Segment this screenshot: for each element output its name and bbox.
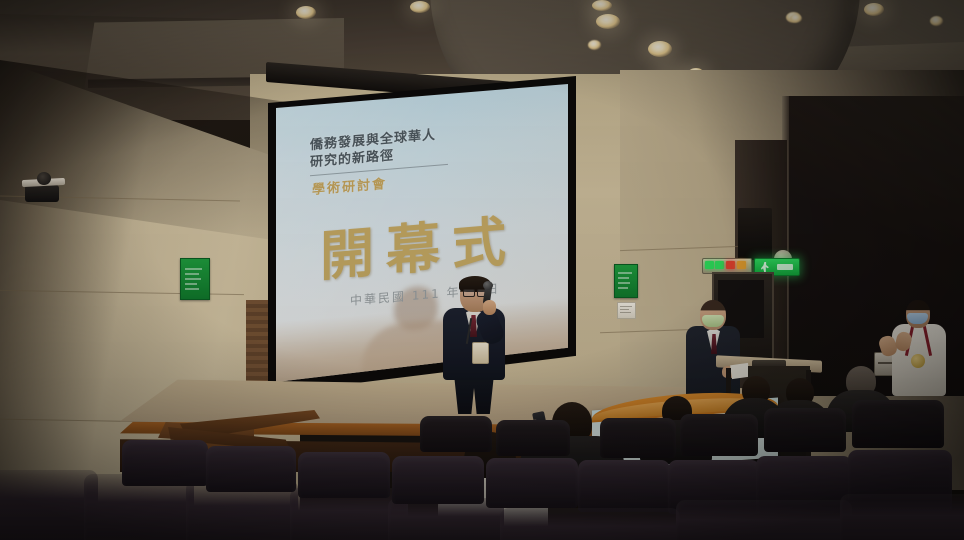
downlight-icon <box>790 14 802 23</box>
wall-camera-icon <box>37 172 51 185</box>
downlight-icon <box>410 1 430 13</box>
led-green-icon <box>705 261 714 269</box>
eyeglasses-icon <box>463 289 475 297</box>
wall-speaker-icon <box>25 185 59 202</box>
wall-loudspeaker <box>738 208 772 260</box>
exit-sign-bar <box>777 264 793 270</box>
led-red-icon <box>726 261 735 269</box>
projection-screen: 僑務發展與全球華人 研究的新路徑 學術研討會 開幕式 中華民國 111 年 月 … <box>276 84 568 382</box>
auditorium-seat <box>496 420 570 456</box>
running-man-icon <box>761 262 769 272</box>
downlight-icon <box>596 14 620 29</box>
downlight-icon <box>296 6 316 19</box>
auditorium-seat <box>392 456 484 504</box>
auditorium-seat <box>298 452 390 498</box>
auditorium-seat <box>680 414 758 456</box>
auditorium-seat-foreground <box>500 508 680 540</box>
slide-subheading: 學術研討會 <box>312 173 387 198</box>
slide-main-title: 開幕式 <box>320 196 518 291</box>
downlight-icon <box>864 3 884 16</box>
auditorium-seat <box>600 418 676 458</box>
podium-papers <box>730 363 750 379</box>
led-green-icon <box>715 261 724 269</box>
evacuation-sign-left <box>180 258 210 300</box>
downlight-icon <box>930 16 943 26</box>
slide-content: 僑務發展與全球華人 研究的新路徑 學術研討會 開幕式 中華民國 111 年 月 … <box>276 84 568 382</box>
auditorium-seat <box>122 440 208 486</box>
notice-card <box>617 302 636 319</box>
auditorium-seat <box>486 458 578 508</box>
auditorium-seat-foreground <box>676 500 852 540</box>
stage-speaker-hand <box>483 300 496 315</box>
auditorium-seat-foreground <box>840 494 964 540</box>
face-mask-icon <box>907 313 928 324</box>
medal-icon <box>911 354 925 368</box>
led-amber-icon <box>737 261 746 269</box>
auditorium-photo: 僑務發展與全球華人 研究的新路徑 學術研討會 開幕式 中華民國 111 年 月 … <box>0 0 964 540</box>
auditorium-seat <box>764 408 846 452</box>
microphone-head-icon <box>483 281 493 290</box>
name-badge <box>472 342 489 364</box>
downlight-icon <box>592 0 612 11</box>
auditorium-seat <box>852 400 944 448</box>
evacuation-sign-right <box>614 264 638 298</box>
auditorium-seat <box>578 460 670 512</box>
downlight-icon <box>648 41 672 57</box>
auditorium-seat <box>420 416 492 452</box>
downlight-icon <box>588 40 601 50</box>
face-mask-icon <box>702 315 724 327</box>
auditorium-seat <box>206 446 296 492</box>
